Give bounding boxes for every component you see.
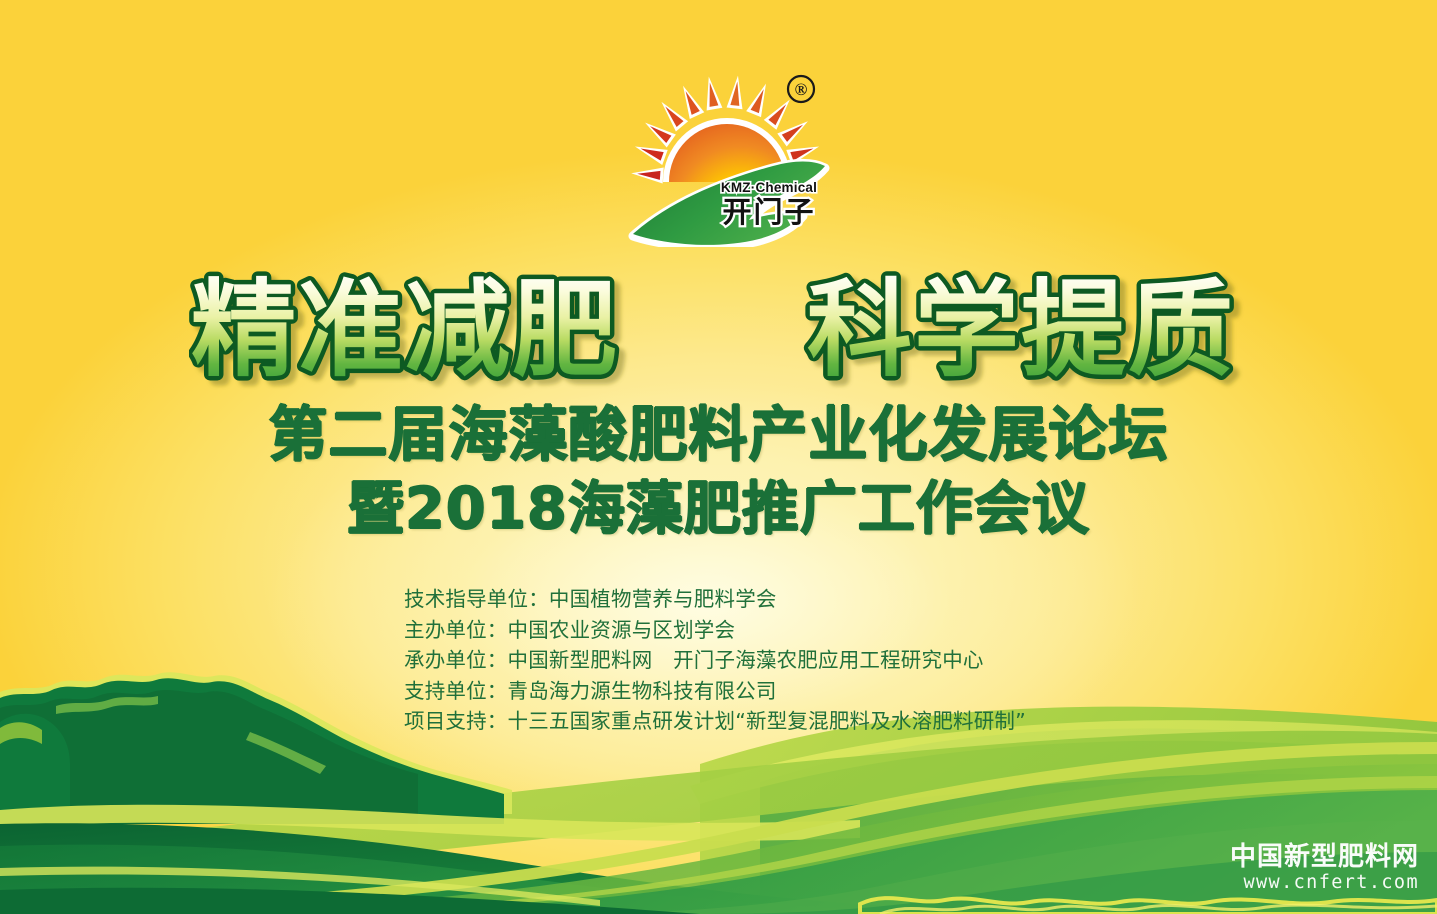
headline-part-2: 科学提质 bbox=[807, 269, 1235, 390]
info-line-project-support: 项目支持：十三五国家重点研发计划“新型复混肥料及水溶肥料研制” bbox=[404, 706, 1104, 737]
svg-text:开门子: 开门子 bbox=[722, 195, 815, 229]
subtitle-line-1: 第二届海藻酸肥料产业化发展论坛 bbox=[0, 398, 1437, 472]
watermark-site-name: 中国新型肥料网 bbox=[1230, 842, 1419, 872]
svg-text:KMZ·Chemical: KMZ·Chemical bbox=[721, 180, 817, 195]
poster-subtitle: 第二届海藻酸肥料产业化发展论坛 暨2018海藻肥推广工作会议 bbox=[0, 398, 1437, 546]
info-line-technical-guidance: 技术指导单位：中国植物营养与肥料学会 bbox=[404, 584, 1104, 615]
site-watermark: 中国新型肥料网 www.cnfert.com bbox=[1230, 842, 1419, 894]
brand-cn-text: 开门子 bbox=[722, 195, 815, 229]
company-logo: ® KMZ·Chemical 开门子 bbox=[617, 62, 837, 247]
registered-trademark-icon: ® bbox=[788, 76, 814, 102]
brand-latin-text: KMZ·Chemical bbox=[721, 180, 817, 195]
registered-symbol-glyph: ® bbox=[795, 80, 808, 99]
info-line-supporter: 支持单位：青岛海力源生物科技有限公司 bbox=[404, 676, 1104, 707]
conference-poster: ® KMZ·Chemical 开门子 bbox=[0, 0, 1437, 914]
organizer-info-block: 技术指导单位：中国植物营养与肥料学会 主办单位：中国农业资源与区划学会 承办单位… bbox=[404, 584, 1104, 737]
subtitle-line-2: 暨2018海藻肥推广工作会议 bbox=[0, 472, 1437, 546]
watermark-url: www.cnfert.com bbox=[1230, 872, 1419, 894]
info-line-organizer: 承办单位：中国新型肥料网 开门子海藻农肥应用工程研究中心 bbox=[404, 645, 1104, 676]
poster-headline: 精准减肥 科学提质 bbox=[0, 268, 1437, 388]
headline-part-1: 精准减肥 bbox=[191, 269, 619, 390]
info-line-host-organization: 主办单位：中国农业资源与区划学会 bbox=[404, 615, 1104, 646]
